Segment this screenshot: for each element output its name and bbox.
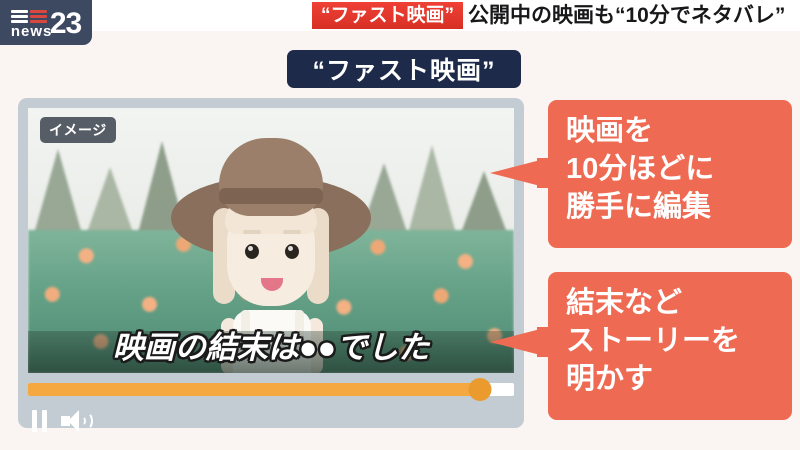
eye-left [245, 244, 259, 259]
logo-number-text: 23 [50, 9, 81, 39]
video-screen[interactable]: イメージ 映画の結末は●●でした [28, 108, 514, 373]
player-controls[interactable] [28, 383, 514, 396]
header-headline: 公開中の映画も“10分でネタバレ” [468, 2, 785, 29]
callout-2-line-3: 明かす [566, 360, 778, 398]
news23-logo: news 23 [0, 0, 92, 45]
progress-bar[interactable] [28, 383, 514, 396]
callout-notch-1 [537, 158, 549, 188]
eyebrow-right [283, 230, 301, 234]
logo-marks: news [11, 10, 47, 39]
control-row[interactable] [32, 409, 91, 433]
logo-inner: news 23 [11, 9, 81, 39]
volume-icon[interactable] [61, 409, 91, 433]
video-player[interactable]: イメージ 映画の結末は●●でした [18, 98, 524, 428]
callout-1-line-1: 映画を [566, 112, 778, 150]
callout-2-line-1: 結末など [566, 284, 778, 322]
eye-right [285, 244, 299, 259]
callout-1-line-2: 10分ほどに [566, 150, 778, 188]
video-caption: 映画の結末は●●でした [113, 322, 429, 367]
caption-band: 映画の結末は●●でした [28, 315, 514, 373]
logo-news-text: news [11, 25, 47, 39]
header-topic-badge: “ファスト映画” [312, 2, 463, 29]
subtitle-pill: “ファスト映画” [287, 50, 521, 88]
hat-band [219, 188, 323, 204]
callout-edit-description: 映画を 10分ほどに 勝手に編集 [548, 100, 792, 248]
image-label-badge: イメージ [40, 117, 116, 143]
pause-icon[interactable] [32, 410, 47, 432]
progress-fill [28, 383, 480, 396]
progress-thumb[interactable] [468, 378, 491, 401]
callout-notch-2 [537, 327, 549, 357]
eyebrow-left [243, 230, 261, 234]
callout-spoiler-description: 結末など ストーリーを 明かす [548, 272, 792, 420]
callout-1-line-3: 勝手に編集 [566, 188, 778, 226]
callout-2-line-2: ストーリーを [566, 322, 778, 360]
logo-bars [11, 10, 47, 23]
hat-crown [219, 138, 323, 216]
